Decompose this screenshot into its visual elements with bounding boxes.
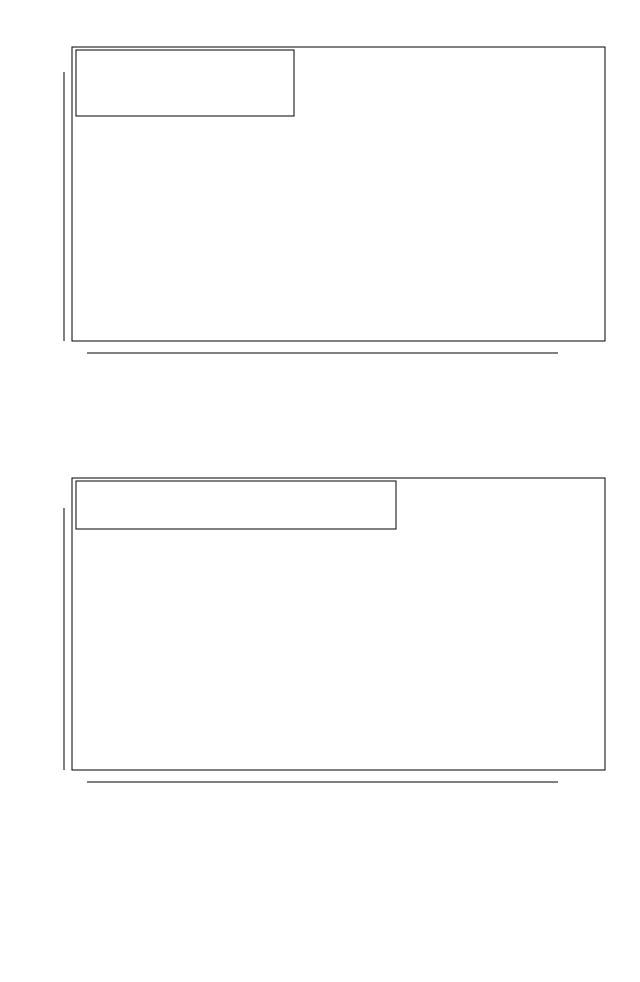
bottom-legend (76, 481, 396, 529)
daily-plot (0, 430, 640, 850)
top-legend-frame (76, 50, 294, 116)
bottom-produto-annotation (446, 914, 606, 982)
accumulated-precipitation-panel (0, 0, 640, 430)
daily-precipitation-panel (0, 430, 640, 850)
bottom-legend-frame (76, 481, 396, 529)
top-legend (76, 50, 294, 116)
precipitation-figure (0, 0, 640, 850)
top-produto-annotation (446, 292, 606, 360)
